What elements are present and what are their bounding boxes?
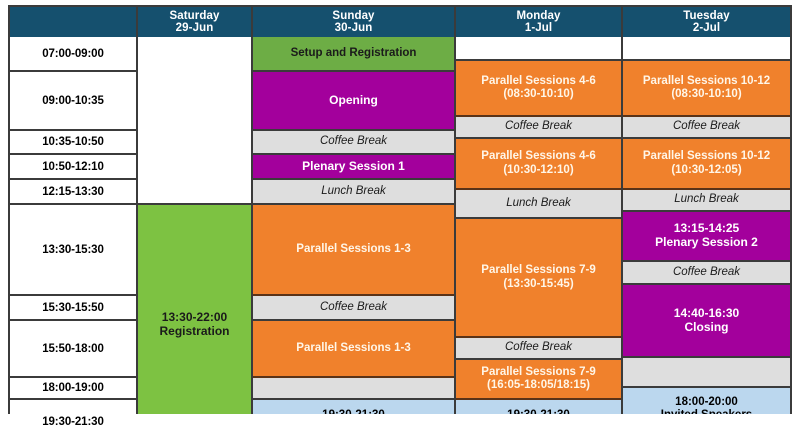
tuesday-coffee-break-morning[interactable]: Coffee Break — [623, 117, 790, 139]
sunday-coffee-morning-label: Coffee Break — [320, 135, 387, 148]
tuesday-invited-speakers-dinner[interactable]: 18:00-20:00 Invited Speakers Dinner — [623, 388, 790, 414]
column-monday: Parallel Sessions 4-6 (08:30-10:10) Coff… — [456, 37, 623, 414]
header-time-corner — [10, 7, 138, 37]
time-slot-1035-1050: 10:35-10:50 — [10, 131, 136, 155]
time-slot-0700-0900: 07:00-09:00 — [10, 37, 136, 72]
sunday-lunch-label: Lunch Break — [321, 185, 386, 198]
sunday-coffee-afternoon-label: Coffee Break — [320, 301, 387, 314]
tuesday-closing-title: Closing — [685, 321, 729, 335]
sunday-plenary-session-1[interactable]: Plenary Session 1 — [253, 155, 454, 180]
sunday-setup-registration[interactable]: Setup and Registration — [253, 37, 454, 72]
header-sunday-date: 30-Jun — [335, 22, 373, 34]
monday-lunch-break[interactable]: Lunch Break — [456, 190, 621, 219]
saturday-empty-morning — [138, 37, 251, 205]
time-slot-1530-1550: 15:30-15:50 — [10, 296, 136, 321]
header-saturday-date: 29-Jun — [176, 22, 214, 34]
header-sunday: Sunday 30-Jun — [253, 7, 456, 37]
header-monday-day: Monday — [516, 10, 560, 22]
header-sunday-day: Sunday — [332, 10, 374, 22]
saturday-registration-time: 13:30-22:00 — [162, 311, 227, 325]
monday-parallel-afternoon-time: (13:30-15:45) — [503, 278, 573, 291]
monday-parallel-sessions-4-6-morning[interactable]: Parallel Sessions 4-6 (08:30-10:10) — [456, 61, 621, 117]
monday-parallel-morning-title: Parallel Sessions 4-6 — [481, 75, 595, 88]
sunday-setup-label: Setup and Registration — [291, 47, 417, 60]
monday-parallel-evening-title: Parallel Sessions 7-9 — [481, 366, 595, 379]
table-frame: Saturday 29-Jun Sunday 30-Jun Monday 1-J… — [8, 5, 792, 414]
saturday-registration-title: Registration — [159, 325, 229, 339]
header-monday: Monday 1-Jul — [456, 7, 623, 37]
header-tuesday: Tuesday 2-Jul — [623, 7, 790, 37]
monday-parallel-sessions-4-6-late-morning[interactable]: Parallel Sessions 4-6 (10:30-12:10) — [456, 139, 621, 190]
header-tuesday-date: 2-Jul — [693, 22, 720, 34]
header-tuesday-day: Tuesday — [683, 10, 730, 22]
sunday-parallel-a-label: Parallel Sessions 1-3 — [296, 243, 410, 256]
column-tuesday: Parallel Sessions 10-12 (08:30-10:10) Co… — [623, 37, 790, 414]
time-slot-1050-1210: 10:50-12:10 — [10, 155, 136, 180]
monday-lunch-label: Lunch Break — [506, 197, 571, 210]
time-slot-1550-1800: 15:50-18:00 — [10, 321, 136, 378]
conference-schedule-table: Saturday 29-Jun Sunday 30-Jun Monday 1-J… — [0, 0, 800, 420]
tuesday-coffee-afternoon-label: Coffee Break — [673, 266, 740, 279]
tuesday-parallel-morning-time: (08:30-10:10) — [671, 88, 741, 101]
tuesday-empty-early — [623, 37, 790, 61]
tuesday-parallel-late-morning-time: (10:30-12:05) — [671, 164, 741, 177]
tuesday-lunch-break[interactable]: Lunch Break — [623, 190, 790, 212]
tuesday-gap-afternoon — [623, 358, 790, 388]
tuesday-lunch-label: Lunch Break — [674, 193, 739, 206]
column-saturday: 13:30-22:00 Registration — [138, 37, 253, 414]
header-saturday-day: Saturday — [169, 10, 219, 22]
monday-parallel-evening-time: (16:05-18:05/18:15) — [487, 379, 590, 392]
monday-parallel-late-morning-time: (10:30-12:10) — [503, 164, 573, 177]
time-slot-0900-1035: 09:00-10:35 — [10, 72, 136, 131]
header-monday-date: 1-Jul — [525, 22, 552, 34]
sunday-plenary1-label: Plenary Session 1 — [302, 160, 405, 174]
sunday-parallel-sessions-1-3-afternoon[interactable]: Parallel Sessions 1-3 — [253, 205, 454, 296]
saturday-registration[interactable]: 13:30-22:00 Registration — [138, 205, 251, 414]
monday-parallel-morning-time: (08:30-10:10) — [503, 88, 573, 101]
monday-poster-time: 19:30-21:30 — [507, 409, 570, 414]
tuesday-parallel-sessions-10-12-late-morning[interactable]: Parallel Sessions 10-12 (10:30-12:05) — [623, 139, 790, 190]
sunday-lunch-break[interactable]: Lunch Break — [253, 180, 454, 205]
time-slot-1215-1330: 12:15-13:30 — [10, 180, 136, 205]
sunday-coffee-break-afternoon[interactable]: Coffee Break — [253, 296, 454, 321]
sunday-parallel-b-label: Parallel Sessions 1-3 — [296, 342, 410, 355]
time-slot-1800-1900: 18:00-19:00 — [10, 378, 136, 400]
tuesday-coffee-morning-label: Coffee Break — [673, 120, 740, 133]
tuesday-parallel-morning-title: Parallel Sessions 10-12 — [643, 75, 770, 88]
tuesday-plenary2-title: Plenary Session 2 — [655, 236, 758, 250]
tuesday-invited-dinner-time: 18:00-20:00 — [675, 396, 738, 409]
sunday-opening[interactable]: Opening — [253, 72, 454, 131]
time-column: 07:00-09:00 09:00-10:35 10:35-10:50 10:5… — [10, 37, 138, 414]
tuesday-parallel-sessions-10-12-morning[interactable]: Parallel Sessions 10-12 (08:30-10:10) — [623, 61, 790, 117]
monday-parallel-sessions-7-9-evening[interactable]: Parallel Sessions 7-9 (16:05-18:05/18:15… — [456, 360, 621, 400]
monday-empty-early — [456, 37, 621, 61]
sunday-parallel-sessions-1-3-evening[interactable]: Parallel Sessions 1-3 — [253, 321, 454, 378]
sunday-banquet-dinner[interactable]: 19:30-21:30 Banquet Dinner — [253, 400, 454, 414]
monday-coffee-break-morning[interactable]: Coffee Break — [456, 117, 621, 139]
monday-parallel-sessions-7-9-afternoon[interactable]: Parallel Sessions 7-9 (13:30-15:45) — [456, 219, 621, 338]
header-saturday: Saturday 29-Jun — [138, 7, 253, 37]
tuesday-parallel-late-morning-title: Parallel Sessions 10-12 — [643, 150, 770, 163]
table-header-row: Saturday 29-Jun Sunday 30-Jun Monday 1-J… — [10, 7, 790, 37]
monday-parallel-afternoon-title: Parallel Sessions 7-9 — [481, 264, 595, 277]
monday-parallel-late-morning-title: Parallel Sessions 4-6 — [481, 150, 595, 163]
monday-coffee-break-afternoon[interactable]: Coffee Break — [456, 338, 621, 360]
column-sunday: Setup and Registration Opening Coffee Br… — [253, 37, 456, 414]
tuesday-closing-time: 14:40-16:30 — [674, 307, 739, 321]
time-slot-1930-2130: 19:30-21:30 — [10, 400, 136, 444]
sunday-coffee-break-morning[interactable]: Coffee Break — [253, 131, 454, 155]
monday-coffee-afternoon-label: Coffee Break — [505, 341, 572, 354]
tuesday-invited-dinner-title: Invited Speakers — [661, 409, 752, 414]
time-slot-1330-1530: 13:30-15:30 — [10, 205, 136, 296]
sunday-opening-label: Opening — [329, 94, 378, 108]
monday-coffee-morning-label: Coffee Break — [505, 120, 572, 133]
tuesday-plenary-session-2[interactable]: 13:15-14:25 Plenary Session 2 — [623, 212, 790, 262]
sunday-banquet-time: 19:30-21:30 — [322, 409, 385, 414]
tuesday-closing[interactable]: 14:40-16:30 Closing — [623, 285, 790, 358]
tuesday-plenary2-time: 13:15-14:25 — [674, 222, 739, 236]
sunday-gap-1800-1900 — [253, 378, 454, 400]
tuesday-coffee-break-afternoon[interactable]: Coffee Break — [623, 262, 790, 285]
monday-poster-reception[interactable]: 19:30-21:30 Poster Reception — [456, 400, 621, 414]
